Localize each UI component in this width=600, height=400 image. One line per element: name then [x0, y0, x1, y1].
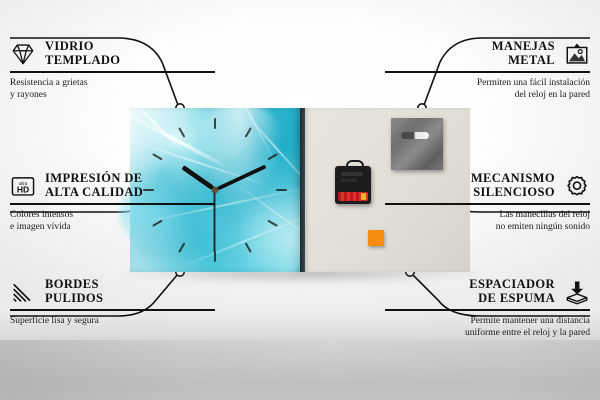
feature-title-line2: PULIDOS [45, 292, 103, 306]
feature-subtitle: Colores intensos e imagen vívida [10, 209, 215, 233]
feature-sub-line1: Permiten una fácil instalación [385, 77, 590, 89]
feature-header: VIDRIO TEMPLADO [10, 40, 215, 67]
hour-mark [245, 127, 252, 138]
feature-title-line1: IMPRESIÓN DE [45, 172, 143, 186]
feature-bordes-pulidos: BORDES PULIDOS Superficie lisa y segura [10, 278, 215, 327]
feature-subtitle: Las manecillas del reloj no emiten ningú… [385, 209, 590, 233]
feature-title-line2: METAL [492, 54, 555, 68]
hour-mark [245, 242, 252, 253]
hour-mark [276, 189, 287, 191]
feature-divider [385, 309, 590, 311]
feature-subtitle: Permite mantener una distancia uniforme … [385, 315, 590, 339]
feature-subtitle: Superficie lisa y segura [10, 315, 215, 327]
picture-hanger-icon [564, 41, 590, 67]
hour-mark [214, 118, 216, 129]
feature-mecanismo-silencioso: MECANISMO SILENCIOSO Las manecillas del … [385, 172, 590, 233]
ultra-hd-icon: ultra HD [10, 173, 36, 199]
polished-edges-icon [10, 279, 36, 305]
hour-mark [178, 242, 185, 253]
hour-mark [267, 153, 278, 160]
feature-title-line2: ALTA CALIDAD [45, 186, 143, 200]
feature-divider [10, 309, 215, 311]
feature-vidrio-templado: VIDRIO TEMPLADO Resistencia a grietas y … [10, 40, 215, 101]
hour-mark [152, 153, 163, 160]
battery-compartment [338, 192, 368, 201]
feature-espaciador-espuma: ESPACIADOR DE ESPUMA Permite mantener un… [385, 278, 590, 339]
clock-movement [335, 166, 371, 204]
feature-title: ESPACIADOR DE ESPUMA [469, 278, 555, 305]
battery-tip [361, 193, 366, 200]
feature-sub-line1: Superficie lisa y segura [10, 315, 215, 327]
foam-spacer [368, 230, 384, 246]
feature-title: MANEJAS METAL [492, 40, 555, 67]
feature-sub-line2: uniforme entre el reloj y la pared [385, 327, 590, 339]
feature-sub-line1: Resistencia a grietas [10, 77, 215, 89]
feature-subtitle: Permiten una fácil instalación del reloj… [385, 77, 590, 101]
gear-icon [564, 173, 590, 199]
feature-sub-line2: y rayones [10, 89, 215, 101]
infographic-stage: VIDRIO TEMPLADO Resistencia a grietas y … [0, 0, 600, 400]
feature-sub-line1: Permite mantener una distancia [385, 315, 590, 327]
background-floor-shade [0, 340, 600, 400]
feature-manejas-metal: MANEJAS METAL Permiten una fácil instala… [385, 40, 590, 101]
feature-divider [10, 203, 215, 205]
feature-title-line2: DE ESPUMA [469, 292, 555, 306]
feature-title-line2: TEMPLADO [45, 54, 120, 68]
hour-mark [267, 220, 278, 227]
feature-header: ESPACIADOR DE ESPUMA [385, 278, 590, 305]
feature-divider [10, 71, 215, 73]
feature-impresion-alta-calidad: ultra HD IMPRESIÓN DE ALTA CALIDAD Color… [10, 172, 215, 233]
feature-sub-line1: Colores intensos [10, 209, 215, 221]
metal-hanger-plate [391, 118, 443, 170]
movement-slot [341, 172, 363, 176]
hour-mark [178, 127, 185, 138]
feature-title-line1: VIDRIO [45, 40, 120, 54]
feature-sub-line2: e imagen vívida [10, 221, 215, 233]
svg-text:HD: HD [17, 184, 29, 194]
foam-spacer-icon [564, 279, 590, 305]
hour-mark [214, 251, 216, 262]
feature-divider [385, 203, 590, 205]
movement-slot [341, 179, 357, 182]
diamond-icon [10, 41, 36, 67]
feature-subtitle: Resistencia a grietas y rayones [10, 77, 215, 101]
feature-title-line2: SILENCIOSO [471, 186, 555, 200]
feature-sub-line1: Las manecillas del reloj [385, 209, 590, 221]
feature-title-line1: MANEJAS [492, 40, 555, 54]
feature-divider [385, 71, 590, 73]
clock-minute-hand [214, 165, 266, 192]
feature-header: ultra HD IMPRESIÓN DE ALTA CALIDAD [10, 172, 215, 199]
feature-sub-line2: del reloj en la pared [385, 89, 590, 101]
feature-title: BORDES PULIDOS [45, 278, 103, 305]
feature-title: VIDRIO TEMPLADO [45, 40, 120, 67]
feature-header: BORDES PULIDOS [10, 278, 215, 305]
feature-title-line1: ESPACIADOR [469, 278, 555, 292]
feature-title: MECANISMO SILENCIOSO [471, 172, 555, 199]
feature-title-line1: BORDES [45, 278, 103, 292]
hanger-slot [401, 132, 429, 139]
feature-title: IMPRESIÓN DE ALTA CALIDAD [45, 172, 143, 199]
feature-sub-line2: no emiten ningún sonido [385, 221, 590, 233]
movement-hook [346, 160, 364, 171]
feature-header: MANEJAS METAL [385, 40, 590, 67]
feature-header: MECANISMO SILENCIOSO [385, 172, 590, 199]
feature-title-line1: MECANISMO [471, 172, 555, 186]
